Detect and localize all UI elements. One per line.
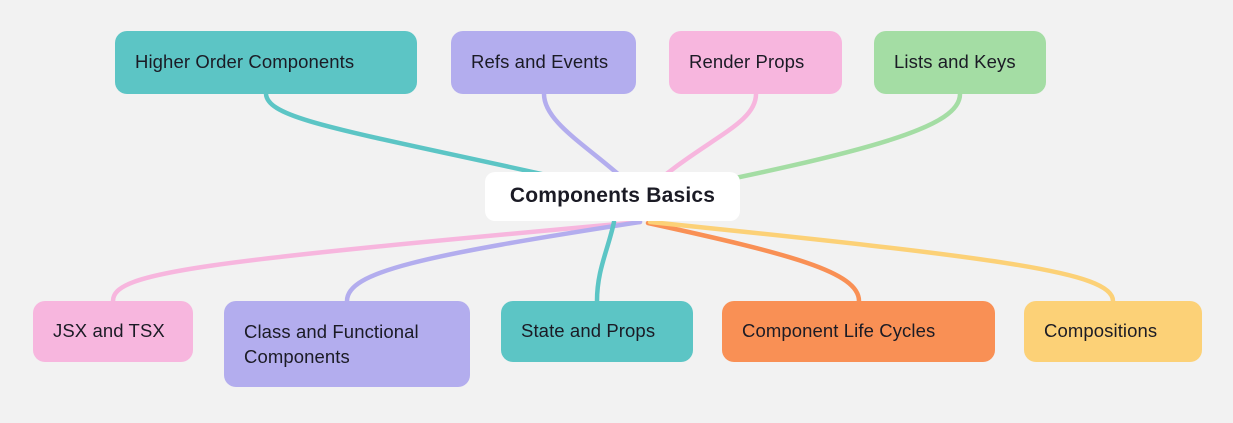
branch-node-jsx-and-tsx[interactable]: JSX and TSX (33, 301, 193, 362)
branch-node-component-life-cycles[interactable]: Component Life Cycles (722, 301, 995, 362)
center-node-components-basics[interactable]: Components Basics (485, 172, 740, 221)
branch-node-higher-order-components[interactable]: Higher Order Components (115, 31, 417, 94)
branch-node-state-and-props[interactable]: State and Props (501, 301, 693, 362)
connector-class-and-functional-components (347, 222, 640, 301)
branch-node-compositions[interactable]: Compositions (1024, 301, 1202, 362)
mind-map-canvas: Components BasicsHigher Order Components… (0, 0, 1233, 423)
connector-state-and-props (597, 222, 614, 301)
branch-node-lists-and-keys[interactable]: Lists and Keys (874, 31, 1046, 94)
connector-component-life-cycles (648, 223, 859, 301)
branch-node-refs-and-events[interactable]: Refs and Events (451, 31, 636, 94)
connector-jsx-and-tsx (113, 222, 640, 301)
branch-node-class-and-functional-components[interactable]: Class and Functional Components (224, 301, 470, 387)
connector-compositions (650, 222, 1113, 301)
branch-node-render-props[interactable]: Render Props (669, 31, 842, 94)
